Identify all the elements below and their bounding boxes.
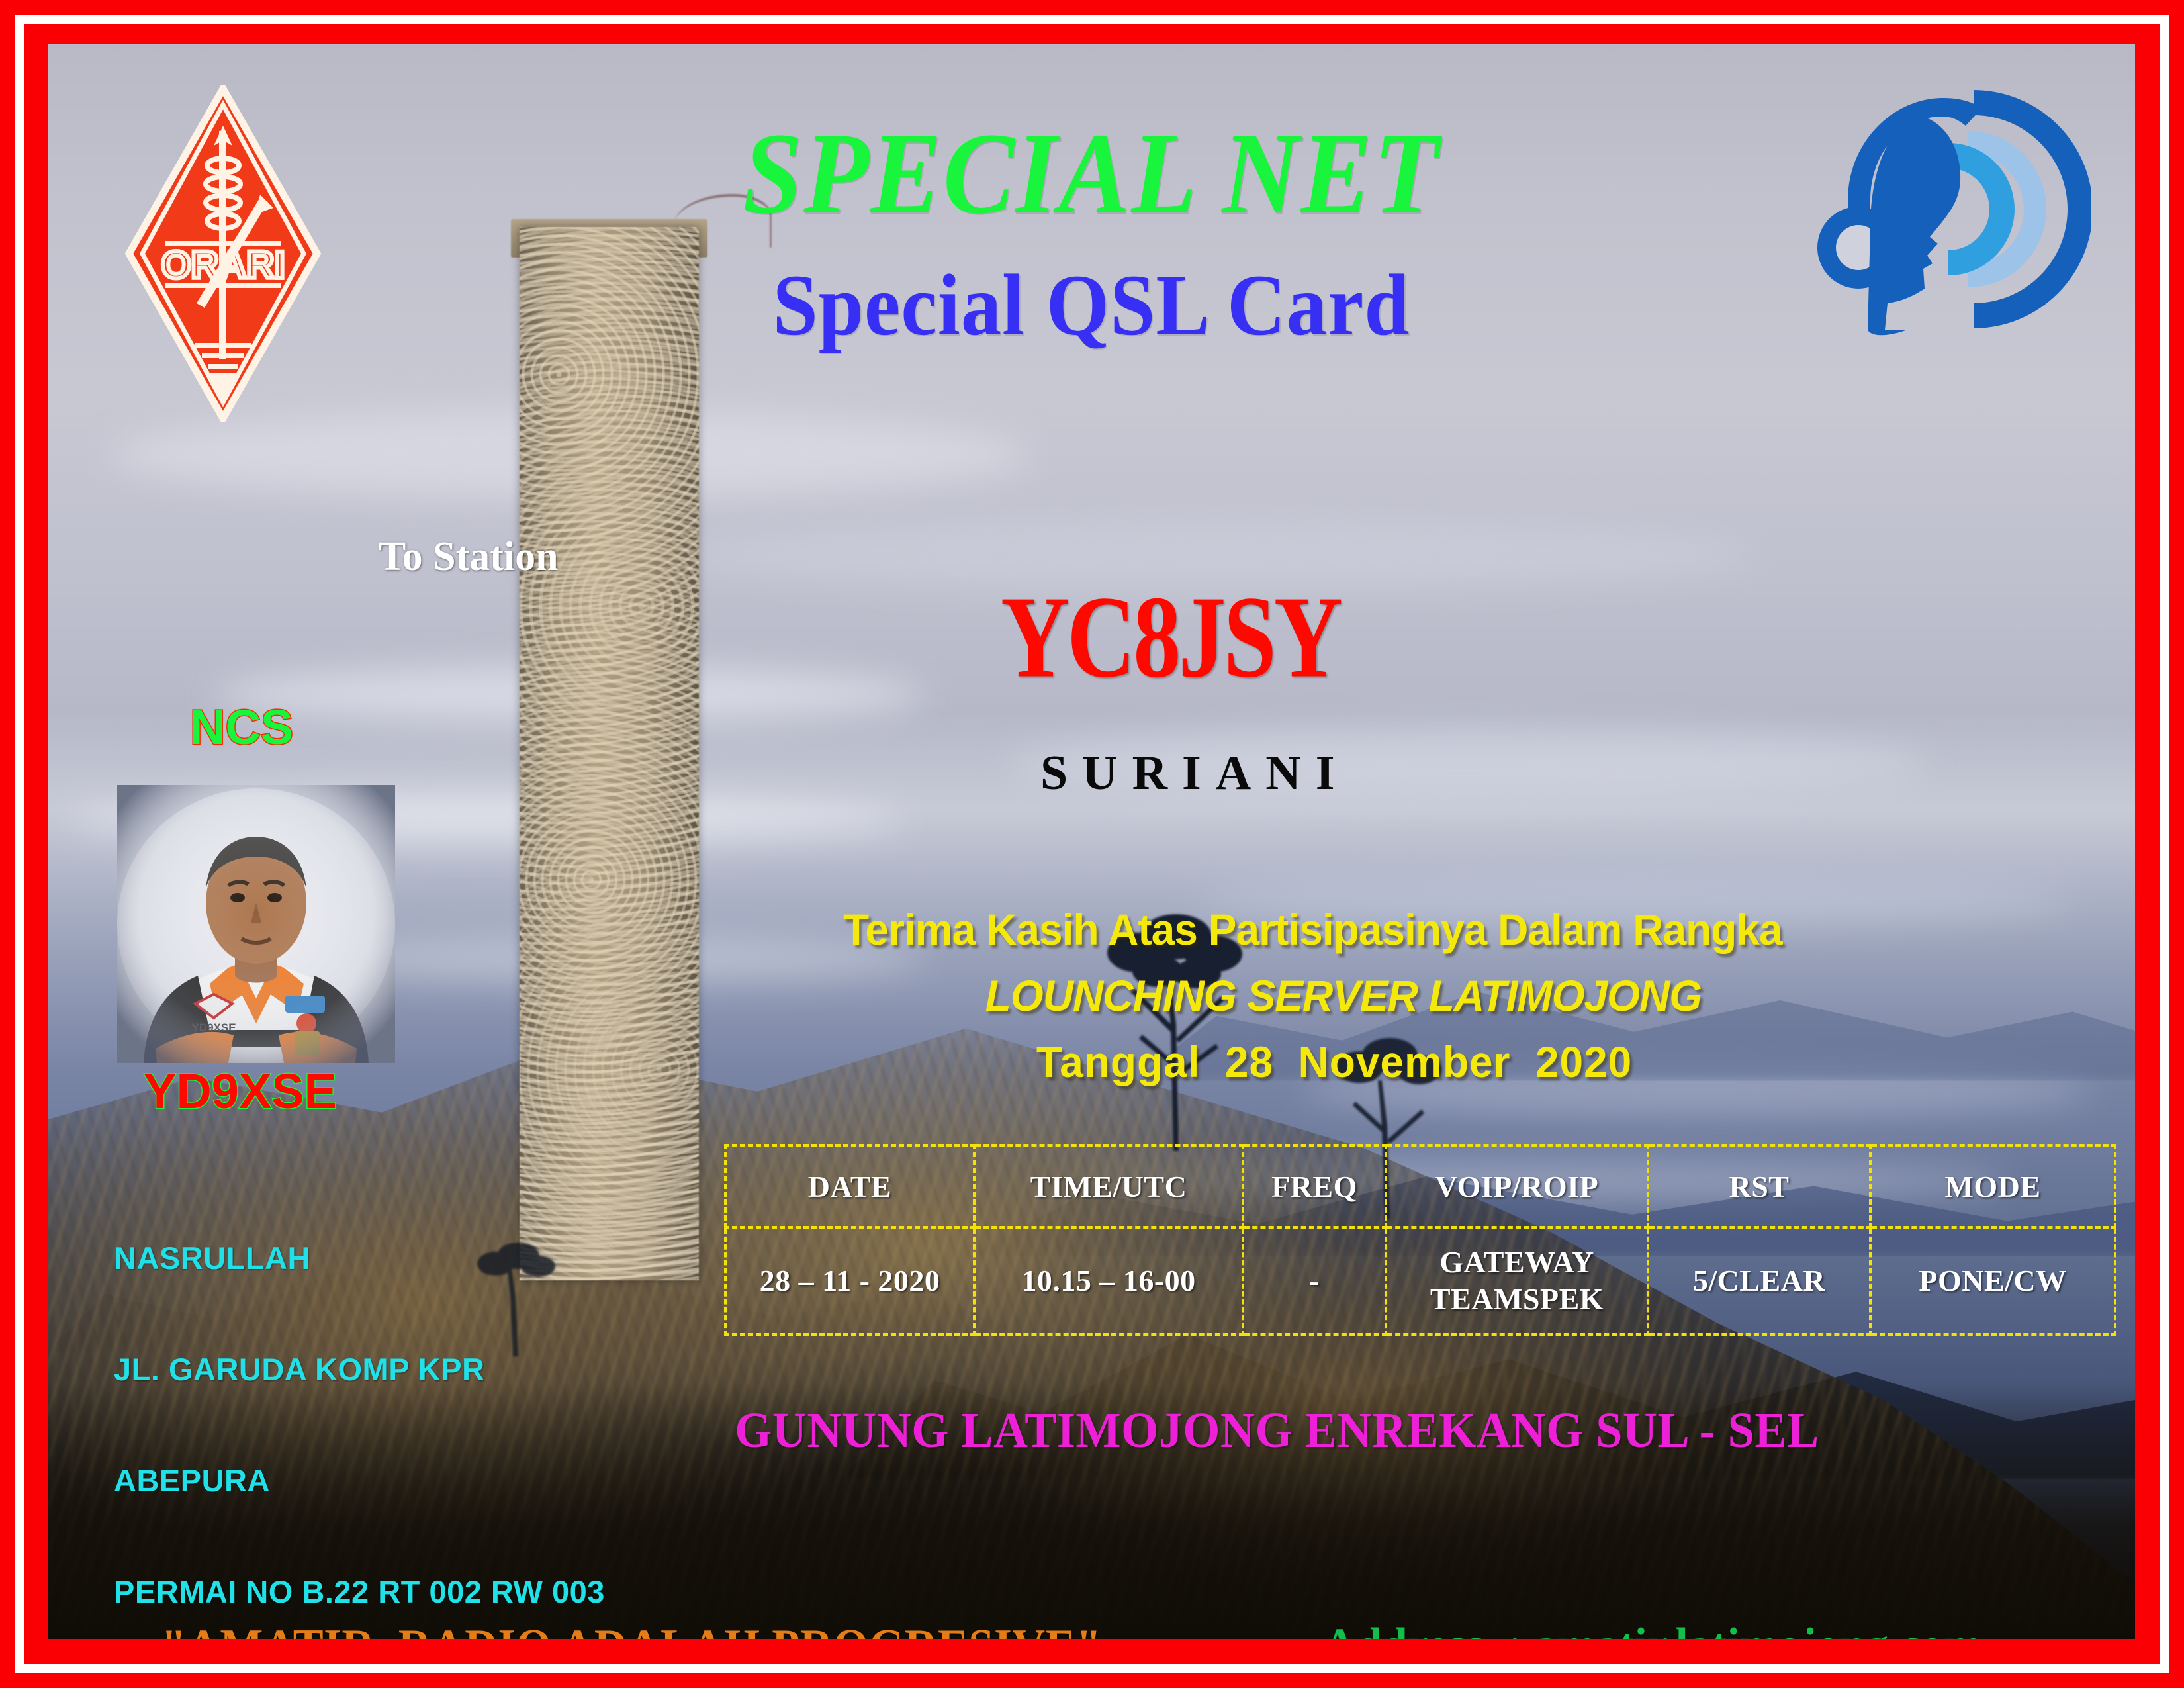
column-header-mode: MODE [1870,1145,2115,1227]
cell-time: 10.15 – 16-00 [974,1227,1243,1335]
footer-slogan: "AMATIR RADIO ADALAH PROGRESIVE" [161,1619,1101,1639]
ncs-operator-photo: YD9XSE [117,785,395,1063]
footer-website-address: Address : amatir.latimojong.com [1323,1618,1982,1639]
ncs-callsign: YD9XSE [144,1063,337,1119]
page-title-special-net: SPECIAL NET [131,107,2052,241]
station-callsign: YC8JSY [1001,570,1340,704]
location-caption: GUNUNG LATIMOJONG ENREKANG SUL - SEL [735,1402,1819,1460]
column-header-date: DATE [725,1145,974,1227]
qso-log-table: DATE TIME/UTC FREQ VOIP/ROIP RST MODE 28… [724,1144,2116,1336]
cell-voip: GATEWAY TEAMSPEK [1386,1227,1648,1335]
qsl-mailing-address: NASRULLAH JL. GARUDA KOMP KPR ABEPURA PE… [114,1166,605,1639]
to-station-label: To Station [379,534,559,581]
stone-monument-pillar [520,227,699,1280]
column-header-voip: VOIP/ROIP [1386,1145,1648,1227]
column-header-time: TIME/UTC [974,1145,1243,1227]
thanks-line-2-event: LOUNCHING SERVER LATIMOJONG [985,970,1702,1021]
table-header-row: DATE TIME/UTC FREQ VOIP/ROIP RST MODE [725,1145,2115,1227]
address-line: PERMAI NO B.22 RT 002 RW 003 [114,1573,605,1611]
column-header-freq: FREQ [1243,1145,1386,1227]
cell-date: 28 – 11 - 2020 [725,1227,974,1335]
cell-rst: 5/CLEAR [1648,1227,1870,1335]
page-subtitle-qsl-card: Special QSL Card [120,254,2062,355]
thanks-line-1: Terima Kasih Atas Partisipasinya Dalam R… [843,904,1782,955]
station-operator-name: SURIANI [1040,745,1349,802]
address-line: JL. GARUDA KOMP KPR [114,1351,605,1388]
table-row: 28 – 11 - 2020 10.15 – 16-00 - GATEWAY T… [725,1227,2115,1335]
qsl-card: ORARI [0,0,2184,1688]
column-header-rst: RST [1648,1145,1870,1227]
address-line: NASRULLAH [114,1240,605,1277]
cell-freq: - [1243,1227,1386,1335]
cell-mode: PONE/CW [1870,1227,2115,1335]
card-photo-background: ORARI [48,44,2135,1639]
ncs-label: NCS [190,699,293,755]
address-line: ABEPURA [114,1462,605,1499]
thanks-line-3-date: Tanggal 28 November 2020 [1036,1037,1632,1087]
